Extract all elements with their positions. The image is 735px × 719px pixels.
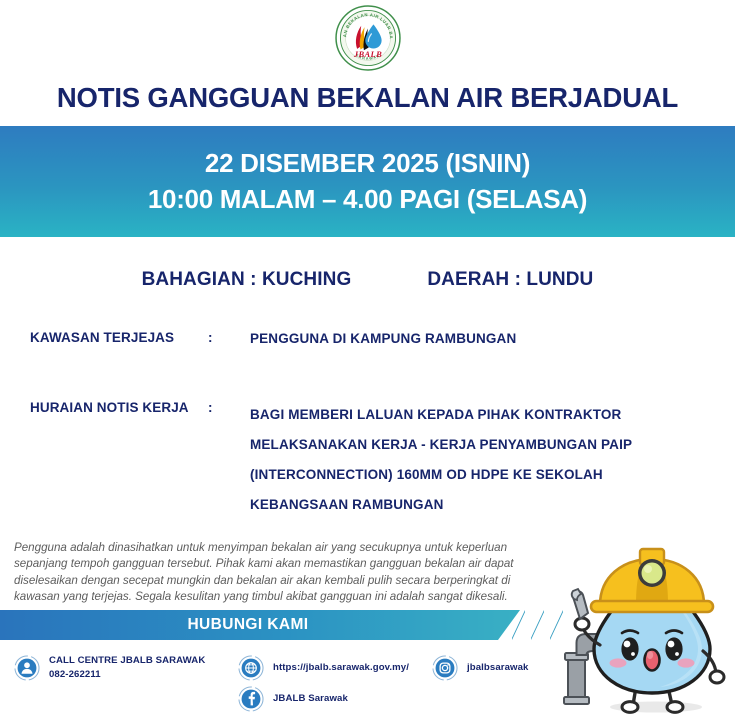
notice-page: JABATAN BEKALAN AIR LUAR BANDAR SARAWAK … — [0, 0, 735, 719]
call-centre-name: CALL CENTRE JBALB SARAWAK — [49, 655, 205, 666]
date-banner: 22 DISEMBER 2025 (ISNIN) 10:00 MALAM – 4… — [0, 126, 735, 237]
huraian-notis-kerja-value: BAGI MEMBERI LALUAN KEPADA PIHAK KONTRAK… — [250, 400, 632, 520]
daerah-label: DAERAH : LUNDU — [427, 269, 593, 291]
advisory-note: Pengguna adalah dinasihatkan untuk menyi… — [14, 540, 534, 606]
hubungi-kami-label: HUBUNGI KAMI — [187, 616, 308, 634]
banner-date: 22 DISEMBER 2025 (ISNIN) — [205, 148, 530, 179]
page-title: NOTIS GANGGUAN BEKALAN AIR BERJADUAL — [0, 82, 735, 114]
kawasan-terjejas-label: KAWASAN TERJEJAS — [30, 330, 208, 345]
kawasan-terjejas-row: KAWASAN TERJEJAS : PENGGUNA DI KAMPUNG R… — [30, 330, 710, 348]
kawasan-terjejas-value: PENGGUNA DI KAMPUNG RAMBUNGAN — [250, 330, 516, 348]
instagram-icon — [432, 655, 458, 681]
banner-time: 10:00 MALAM – 4.00 PAGI (SELASA) — [148, 184, 587, 215]
website-url: https://jbalb.sarawak.gov.my/ — [273, 662, 409, 673]
water-droplet-mascot — [560, 527, 735, 719]
huraian-notis-kerja-label: HURAIAN NOTIS KERJA — [30, 400, 208, 415]
person-icon — [14, 655, 40, 681]
call-centre-text: CALL CENTRE JBALB SARAWAK 082-262211 — [49, 654, 205, 682]
contact-facebook[interactable]: JBALB Sarawak — [238, 686, 348, 712]
contact-instagram[interactable]: jbalbsarawak — [432, 655, 528, 681]
huraian-line: (INTERCONNECTION) 160MM OD HDPE KE SEKOL… — [250, 460, 632, 490]
huraian-notis-kerja-row: HURAIAN NOTIS KERJA : BAGI MEMBERI LALUA… — [30, 400, 710, 520]
kawasan-line: PENGGUNA DI KAMPUNG RAMBUNGAN — [250, 330, 516, 348]
facebook-handle: JBALB Sarawak — [273, 693, 348, 704]
huraian-line: KEBANGSAAN RAMBUNGAN — [250, 490, 632, 520]
decorative-stripe — [531, 610, 544, 640]
contact-website[interactable]: https://jbalb.sarawak.gov.my/ — [238, 655, 409, 681]
instagram-text: jbalbsarawak — [467, 661, 528, 675]
huraian-line: MELAKSANAKAN KERJA - KERJA PENYAMBUNGAN … — [250, 430, 632, 460]
facebook-text: JBALB Sarawak — [273, 692, 348, 706]
contact-call-centre[interactable]: CALL CENTRE JBALB SARAWAK 082-262211 — [14, 654, 205, 682]
svg-text:JBALB: JBALB — [352, 49, 381, 59]
hubungi-kami-bar: HUBUNGI KAMI — [0, 610, 520, 640]
instagram-handle: jbalbsarawak — [467, 662, 528, 673]
website-text: https://jbalb.sarawak.gov.my/ — [273, 661, 409, 675]
huraian-colon: : — [208, 400, 250, 415]
call-centre-number: 082-262211 — [49, 668, 205, 682]
logo-container: JABATAN BEKALAN AIR LUAR BANDAR SARAWAK … — [0, 4, 735, 72]
facebook-icon — [238, 686, 264, 712]
huraian-line: BAGI MEMBERI LALUAN KEPADA PIHAK KONTRAK… — [250, 400, 632, 430]
jbalb-sarawak-logo: JABATAN BEKALAN AIR LUAR BANDAR SARAWAK … — [334, 4, 402, 72]
kawasan-colon: : — [208, 330, 250, 345]
hard-hat-icon — [591, 549, 713, 612]
bahagian-label: BAHAGIAN : KUCHING — [142, 269, 352, 291]
globe-icon — [238, 655, 264, 681]
division-row: BAHAGIAN : KUCHING DAERAH : LUNDU — [0, 269, 735, 291]
